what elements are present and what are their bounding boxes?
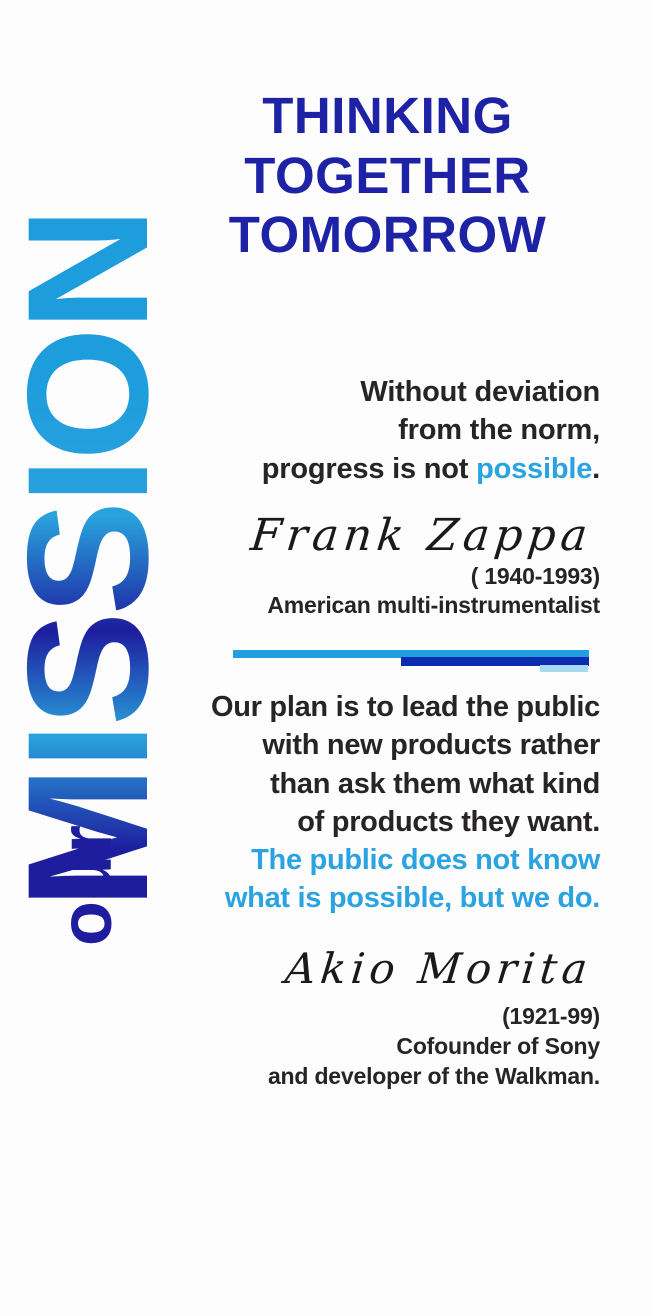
quote-two-line-3: than ask them what kind [175, 765, 600, 803]
headline-line-3: TOMORROW [175, 205, 600, 265]
page-title: THINKING TOGETHER TOMORROW [175, 86, 600, 265]
attribution-akio-morita: (1921-99) Cofounder of Sony and develope… [175, 1002, 600, 1092]
divider-bottom-light-bar [540, 665, 588, 672]
quote-one-text: Without deviation from the norm, progres… [175, 373, 600, 488]
quote-two-line-6: what is possible, but we do. [175, 879, 600, 917]
attribution-frank-zappa: ( 1940-1993) American multi-instrumental… [175, 562, 600, 621]
headline-line-1: THINKING [175, 86, 600, 146]
attribution-one-dates: ( 1940-1993) [175, 562, 600, 591]
attribution-two-role-2: and developer of the Walkman. [175, 1062, 600, 1092]
quote-one-suffix: . [592, 453, 600, 485]
quote-one-line-3: progress is not possible. [175, 450, 600, 488]
attribution-two-role-1: Cofounder of Sony [175, 1032, 600, 1062]
attribution-one-role: American multi-instrumentalist [175, 591, 600, 620]
quote-one-prefix: progress is not [262, 453, 476, 485]
quote-one-line-1: Without deviation [175, 373, 600, 411]
vertical-word-stack: MISSION our [0, 0, 175, 1316]
vertical-our-word: our [0, 810, 181, 960]
attribution-two-dates: (1921-99) [175, 1002, 600, 1032]
quote-two-line-2: with new products rather [175, 726, 600, 764]
quote-one-accent-word: possible [476, 453, 592, 485]
quote-two-line-4: of products they want. [175, 803, 600, 841]
quote-one-line-2: from the norm, [175, 411, 600, 449]
section-divider [175, 650, 600, 672]
content-column: THINKING TOGETHER TOMORROW Without devia… [175, 0, 600, 1316]
vertical-sidebar: MISSION our [0, 0, 175, 1316]
signature-frank-zappa: Frank Zappa [170, 514, 595, 558]
quote-two-text: Our plan is to lead the public with new … [175, 688, 600, 918]
quote-two-line-5: The public does not know [175, 841, 600, 879]
quote-two-line-1: Our plan is to lead the public [175, 688, 600, 726]
signature-akio-morita: Akio Morita [170, 948, 594, 990]
headline-line-2: TOGETHER [175, 146, 600, 206]
mission-poster: MISSION our THINKING TOGETHER TOMORROW W… [0, 0, 650, 1316]
